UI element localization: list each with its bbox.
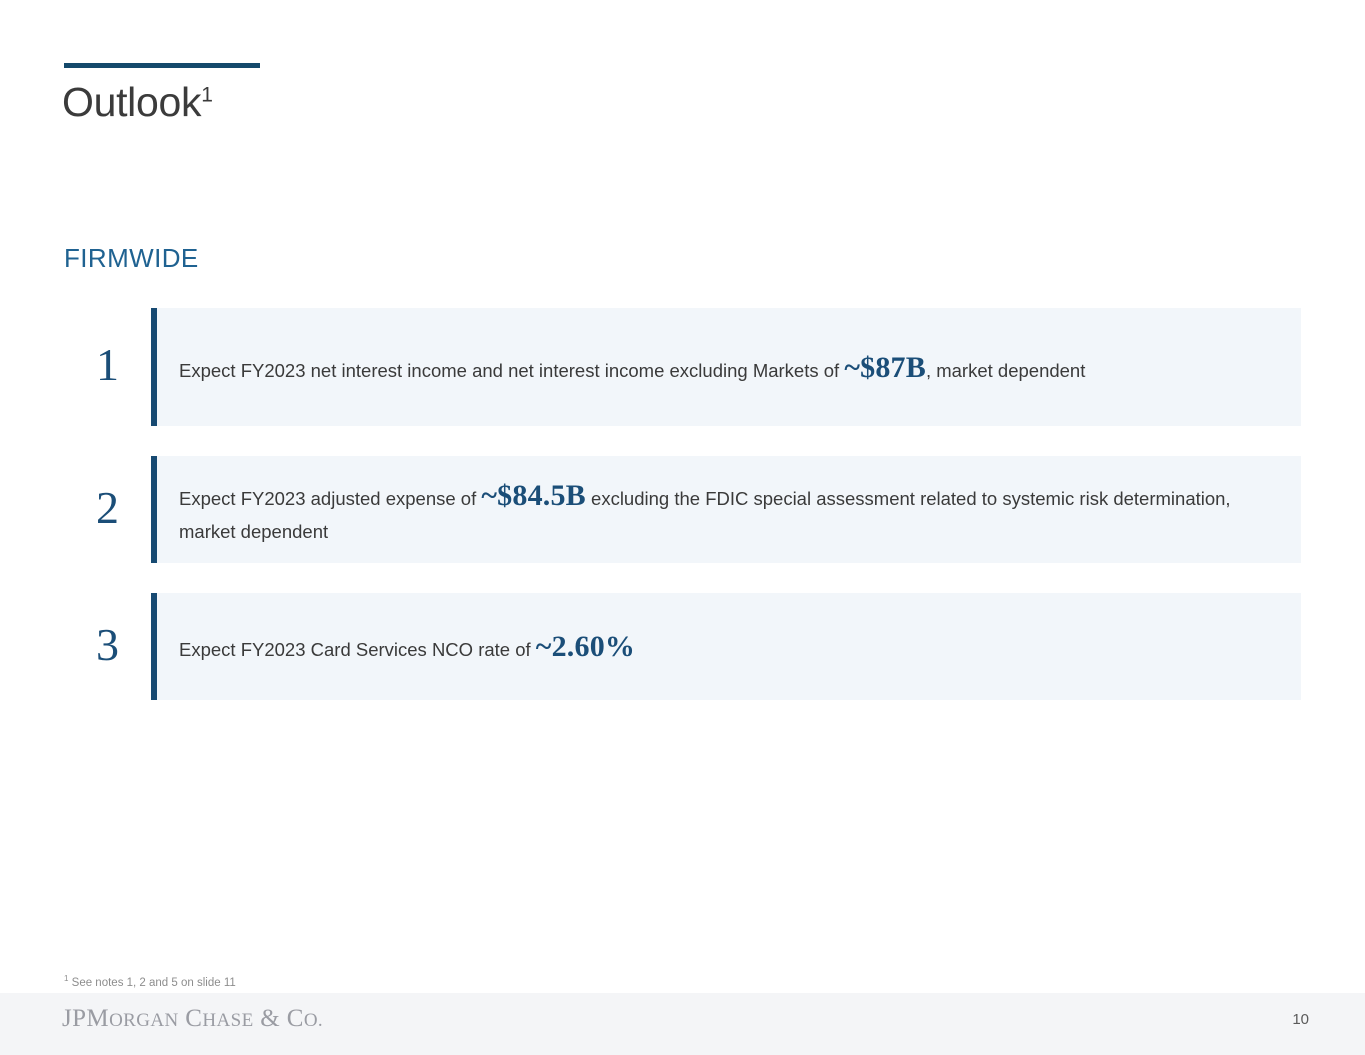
- footnote: 1 See notes 1, 2 and 5 on slide 11: [64, 977, 236, 989]
- outlook-items-list: 1 Expect FY2023 net interest income and …: [64, 308, 1301, 730]
- slide-canvas: Outlook1 FIRMWIDE 1 Expect FY2023 net in…: [0, 0, 1365, 1055]
- outlook-item-highlight-value: ~$84.5B: [481, 479, 586, 512]
- brand-lead: JPM: [62, 1005, 109, 1032]
- page-title-text: Outlook: [62, 79, 201, 125]
- page-number: 10: [1292, 1011, 1309, 1028]
- brand-rest-3: O.: [304, 1010, 323, 1031]
- outlook-item-number: 2: [64, 485, 151, 535]
- outlook-item-highlight-value: ~2.60%: [536, 630, 635, 663]
- brand-rest-2: HASE: [202, 1010, 253, 1031]
- outlook-item-text: Expect FY2023 Card Services NCO rate of …: [179, 624, 635, 669]
- outlook-item-highlight-value: ~$87B: [844, 351, 926, 384]
- section-label-firmwide: FIRMWIDE: [64, 243, 199, 274]
- title-rule-divider: [64, 63, 260, 68]
- footnote-text: See notes 1, 2 and 5 on slide 11: [68, 977, 235, 989]
- outlook-item-text: Expect FY2023 adjusted expense of ~$84.5…: [179, 473, 1279, 546]
- brand-rest-1: ORGAN: [109, 1010, 179, 1031]
- outlook-item-text-before: Expect FY2023 Card Services NCO rate of: [179, 639, 536, 660]
- outlook-item-text-before: Expect FY2023 net interest income and ne…: [179, 360, 844, 381]
- brand-c: C: [179, 1005, 203, 1032]
- outlook-item: 3 Expect FY2023 Card Services NCO rate o…: [64, 593, 1301, 700]
- brand-amp: & C: [254, 1005, 304, 1032]
- outlook-item-text-before: Expect FY2023 adjusted expense of: [179, 488, 481, 509]
- outlook-item: 2 Expect FY2023 adjusted expense of ~$84…: [64, 456, 1301, 563]
- outlook-item-number: 3: [64, 622, 151, 672]
- page-title-superscript: 1: [201, 83, 212, 106]
- outlook-item-panel: Expect FY2023 adjusted expense of ~$84.5…: [151, 456, 1301, 563]
- outlook-item-panel: Expect FY2023 net interest income and ne…: [151, 308, 1301, 426]
- outlook-item-panel: Expect FY2023 Card Services NCO rate of …: [151, 593, 1301, 700]
- page-title: Outlook1: [62, 80, 213, 125]
- outlook-item-number: 1: [64, 342, 151, 392]
- outlook-item-text-after: , market dependent: [926, 360, 1085, 381]
- outlook-item: 1 Expect FY2023 net interest income and …: [64, 308, 1301, 426]
- outlook-item-text: Expect FY2023 net interest income and ne…: [179, 345, 1085, 390]
- brand-logo-jpmorgan-chase: JPMORGAN CHASE & CO.: [62, 1005, 323, 1033]
